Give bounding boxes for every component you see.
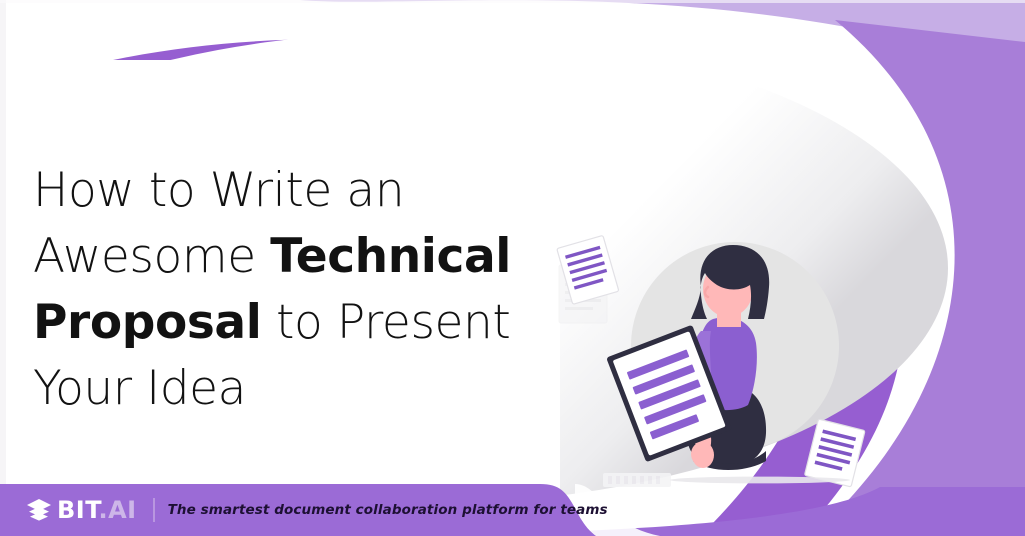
headline-line-1: How to Write an (33, 163, 404, 218)
logo-text-ai: AI (108, 496, 137, 524)
floor-line (670, 477, 850, 484)
headline-line-2-plain: Awesome (33, 229, 270, 284)
page-title: How to Write an Awesome Technical Propos… (33, 158, 553, 422)
headline-line-4: Your Idea (33, 361, 246, 416)
logo-wordmark: BIT.AI (57, 498, 137, 522)
stacked-layers-logo-icon (26, 498, 52, 522)
logo-tagline-divider (153, 498, 155, 522)
logo-text-dot: . (98, 496, 108, 524)
footer-tagline: The smartest document collaboration plat… (168, 502, 608, 518)
logo-text-bit: BIT (57, 496, 98, 524)
headline-line-2-bold: Technical (270, 229, 511, 284)
footer-content: BIT.AI The smartest document collaborati… (0, 484, 608, 536)
headline-line-3-bold: Proposal (33, 295, 261, 350)
illustration-svg (545, 215, 905, 515)
woman-holding-document-illustration (545, 215, 905, 515)
bit-ai-logo[interactable]: BIT.AI (26, 498, 137, 522)
banner-image: How to Write an Awesome Technical Propos… (0, 0, 1025, 536)
headline-line-3-plain: to Present (261, 295, 510, 350)
floating-document-right (804, 419, 865, 487)
faded-bar (603, 473, 671, 487)
